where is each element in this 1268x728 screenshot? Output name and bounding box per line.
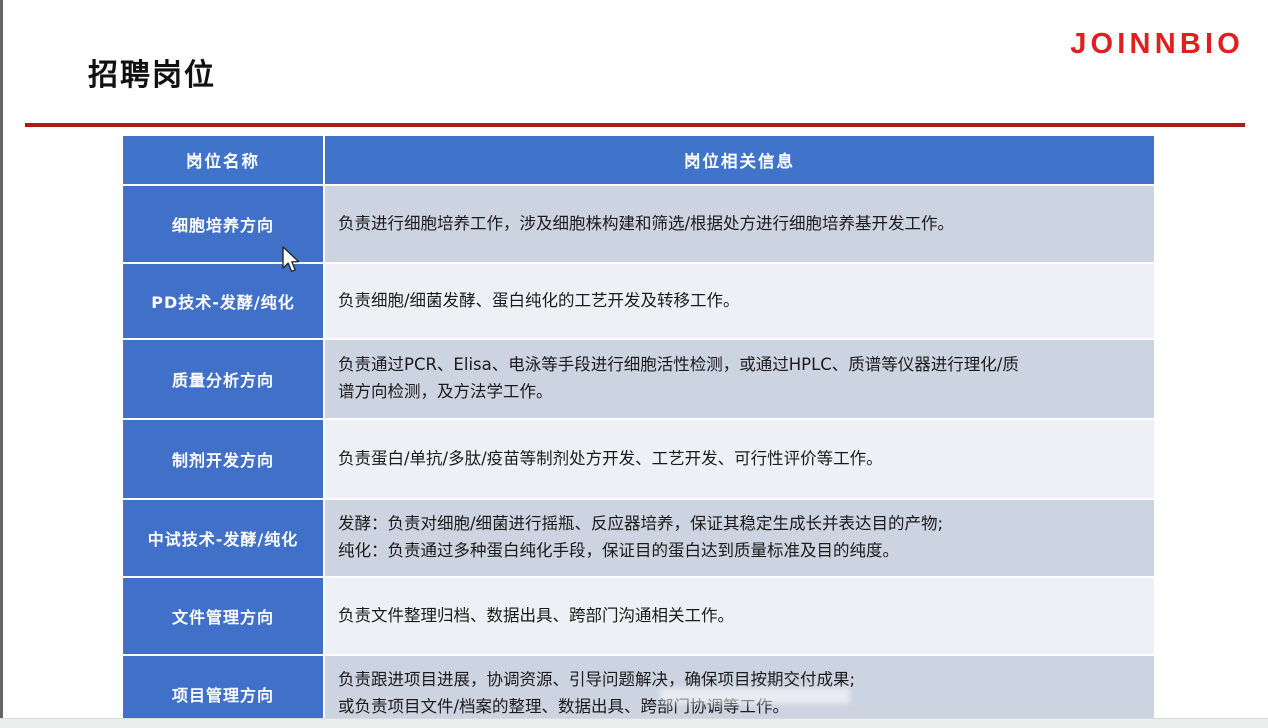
position-name-cell: PD技术-发酵/纯化 xyxy=(123,264,325,340)
position-info-cell: 负责蛋白/单抗/多肽/疫苗等制剂处方开发、工艺开发、可行性评价等工作。 xyxy=(325,420,1154,500)
slide-canvas: JOINNBIO 招聘岗位 岗位名称 岗位相关信息 细胞培养方向 负责进行细胞培… xyxy=(0,0,1268,728)
position-info-cell: 负责进行细胞培养工作，涉及细胞株构建和筛选/根据处方进行细胞培养基开发工作。 xyxy=(325,186,1154,264)
position-info-cell: 负责细胞/细菌发酵、蛋白纯化的工艺开发及转移工作。 xyxy=(325,264,1154,340)
column-header-position-info: 岗位相关信息 xyxy=(325,136,1154,186)
info-line: 负责跟进项目进展，协调资源、引导问题解决，确保项目按期交付成果; xyxy=(338,667,1142,694)
position-name-cell: 文件管理方向 xyxy=(123,578,325,656)
info-line: 发酵：负责对细胞/细菌进行摇瓶、反应器培养，保证其稳定生成长并表达目的产物; xyxy=(338,511,1142,538)
table-row: PD技术-发酵/纯化 负责细胞/细菌发酵、蛋白纯化的工艺开发及转移工作。 xyxy=(123,264,1154,340)
table-row: 制剂开发方向 负责蛋白/单抗/多肽/疫苗等制剂处方开发、工艺开发、可行性评价等工… xyxy=(123,420,1154,500)
info-line: 负责文件整理归档、数据出具、跨部门沟通相关工作。 xyxy=(338,603,1142,630)
position-name-cell: 细胞培养方向 xyxy=(123,186,325,264)
recruitment-positions-table: 岗位名称 岗位相关信息 细胞培养方向 负责进行细胞培养工作，涉及细胞株构建和筛选… xyxy=(123,136,1154,728)
table-header-row: 岗位名称 岗位相关信息 xyxy=(123,136,1154,186)
video-letterbox-left xyxy=(0,0,3,728)
video-letterbox-bottom xyxy=(0,719,1268,728)
info-line: 谱方向检测，及方法学工作。 xyxy=(338,379,1142,406)
position-name-cell: 质量分析方向 xyxy=(123,340,325,420)
info-line: 负责蛋白/单抗/多肽/疫苗等制剂处方开发、工艺开发、可行性评价等工作。 xyxy=(338,446,1142,473)
position-name-cell: 中试技术-发酵/纯化 xyxy=(123,500,325,578)
info-line: 负责进行细胞培养工作，涉及细胞株构建和筛选/根据处方进行细胞培养基开发工作。 xyxy=(338,211,1142,238)
info-line: 或负责项目文件/档案的整理、数据出具、跨部门协调等工作。 xyxy=(338,694,1142,721)
table-row: 细胞培养方向 负责进行细胞培养工作，涉及细胞株构建和筛选/根据处方进行细胞培养基… xyxy=(123,186,1154,264)
page-title: 招聘岗位 xyxy=(88,50,216,94)
title-divider-rule xyxy=(25,123,1245,127)
position-name-cell: 制剂开发方向 xyxy=(123,420,325,500)
table-row: 中试技术-发酵/纯化 发酵：负责对细胞/细菌进行摇瓶、反应器培养，保证其稳定生成… xyxy=(123,500,1154,578)
position-info-cell: 负责通过PCR、Elisa、电泳等手段进行细胞活性检测，或通过HPLC、质谱等仪… xyxy=(325,340,1154,420)
info-line: 负责通过PCR、Elisa、电泳等手段进行细胞活性检测，或通过HPLC、质谱等仪… xyxy=(338,352,1142,379)
info-line: 纯化：负责通过多种蛋白纯化手段，保证目的蛋白达到质量标准及目的纯度。 xyxy=(338,538,1142,565)
position-info-cell: 发酵：负责对细胞/细菌进行摇瓶、反应器培养，保证其稳定生成长并表达目的产物; 纯… xyxy=(325,500,1154,578)
table-row: 质量分析方向 负责通过PCR、Elisa、电泳等手段进行细胞活性检测，或通过HP… xyxy=(123,340,1154,420)
position-info-cell: 负责文件整理归档、数据出具、跨部门沟通相关工作。 xyxy=(325,578,1154,656)
info-line: 负责细胞/细菌发酵、蛋白纯化的工艺开发及转移工作。 xyxy=(338,288,1142,315)
table-row: 文件管理方向 负责文件整理归档、数据出具、跨部门沟通相关工作。 xyxy=(123,578,1154,656)
column-header-position-name: 岗位名称 xyxy=(123,136,325,186)
joinnbio-logo: JOINNBIO xyxy=(1070,28,1244,61)
